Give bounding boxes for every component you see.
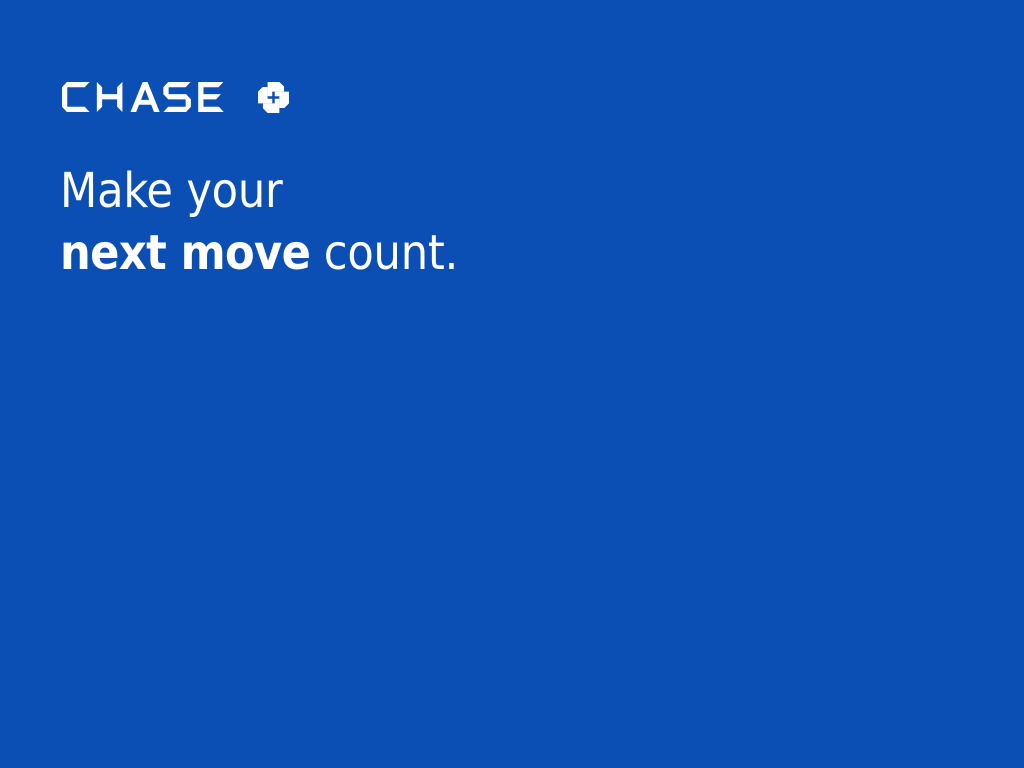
headline: Make your next move count. (60, 160, 458, 284)
chase-wordmark-icon (62, 82, 248, 112)
headline-line-2-rest: count. (310, 225, 458, 281)
headline-line-2: next move count. (60, 222, 458, 284)
headline-line-1: Make your (60, 160, 458, 222)
chase-octagon-icon (258, 82, 289, 113)
headline-emphasis: next move (60, 225, 310, 281)
chase-brand-slide: Make your next move count. (0, 0, 1024, 768)
chase-logo[interactable] (62, 80, 289, 114)
